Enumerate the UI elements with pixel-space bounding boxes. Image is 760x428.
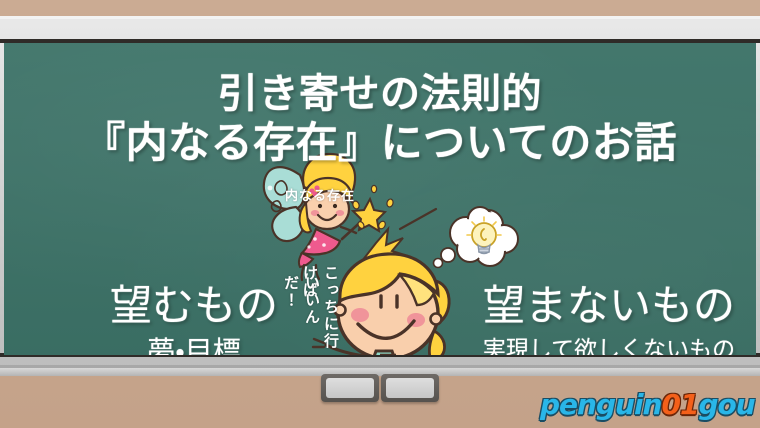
site-logo: penguin01gou bbox=[540, 388, 755, 421]
chalk-eraser-1 bbox=[321, 374, 379, 402]
chalk-eraser-2 bbox=[381, 374, 439, 402]
thumbnail-canvas: 引き寄せの法則的 『内なる存在』についてのお話 内なる存在 こっちに行けば いい… bbox=[0, 0, 760, 428]
chalk-tray bbox=[0, 368, 760, 376]
logo-part-2: 01 bbox=[661, 388, 698, 421]
logo-part-1: penguin bbox=[540, 388, 661, 421]
fairy-head bbox=[300, 154, 355, 232]
fairy-wings bbox=[264, 167, 304, 241]
girl-character bbox=[313, 254, 449, 355]
blackboard-surface: 引き寄せの法則的 『内なる存在』についてのお話 内なる存在 こっちに行けば いい… bbox=[4, 43, 756, 355]
eraser-pad bbox=[326, 378, 374, 398]
chalkboard-illustration bbox=[4, 43, 756, 355]
eraser-pad bbox=[386, 378, 434, 398]
frame-top-highlight bbox=[0, 16, 760, 19]
thought-bubble bbox=[434, 207, 519, 268]
logo-part-3: gou bbox=[698, 388, 754, 421]
